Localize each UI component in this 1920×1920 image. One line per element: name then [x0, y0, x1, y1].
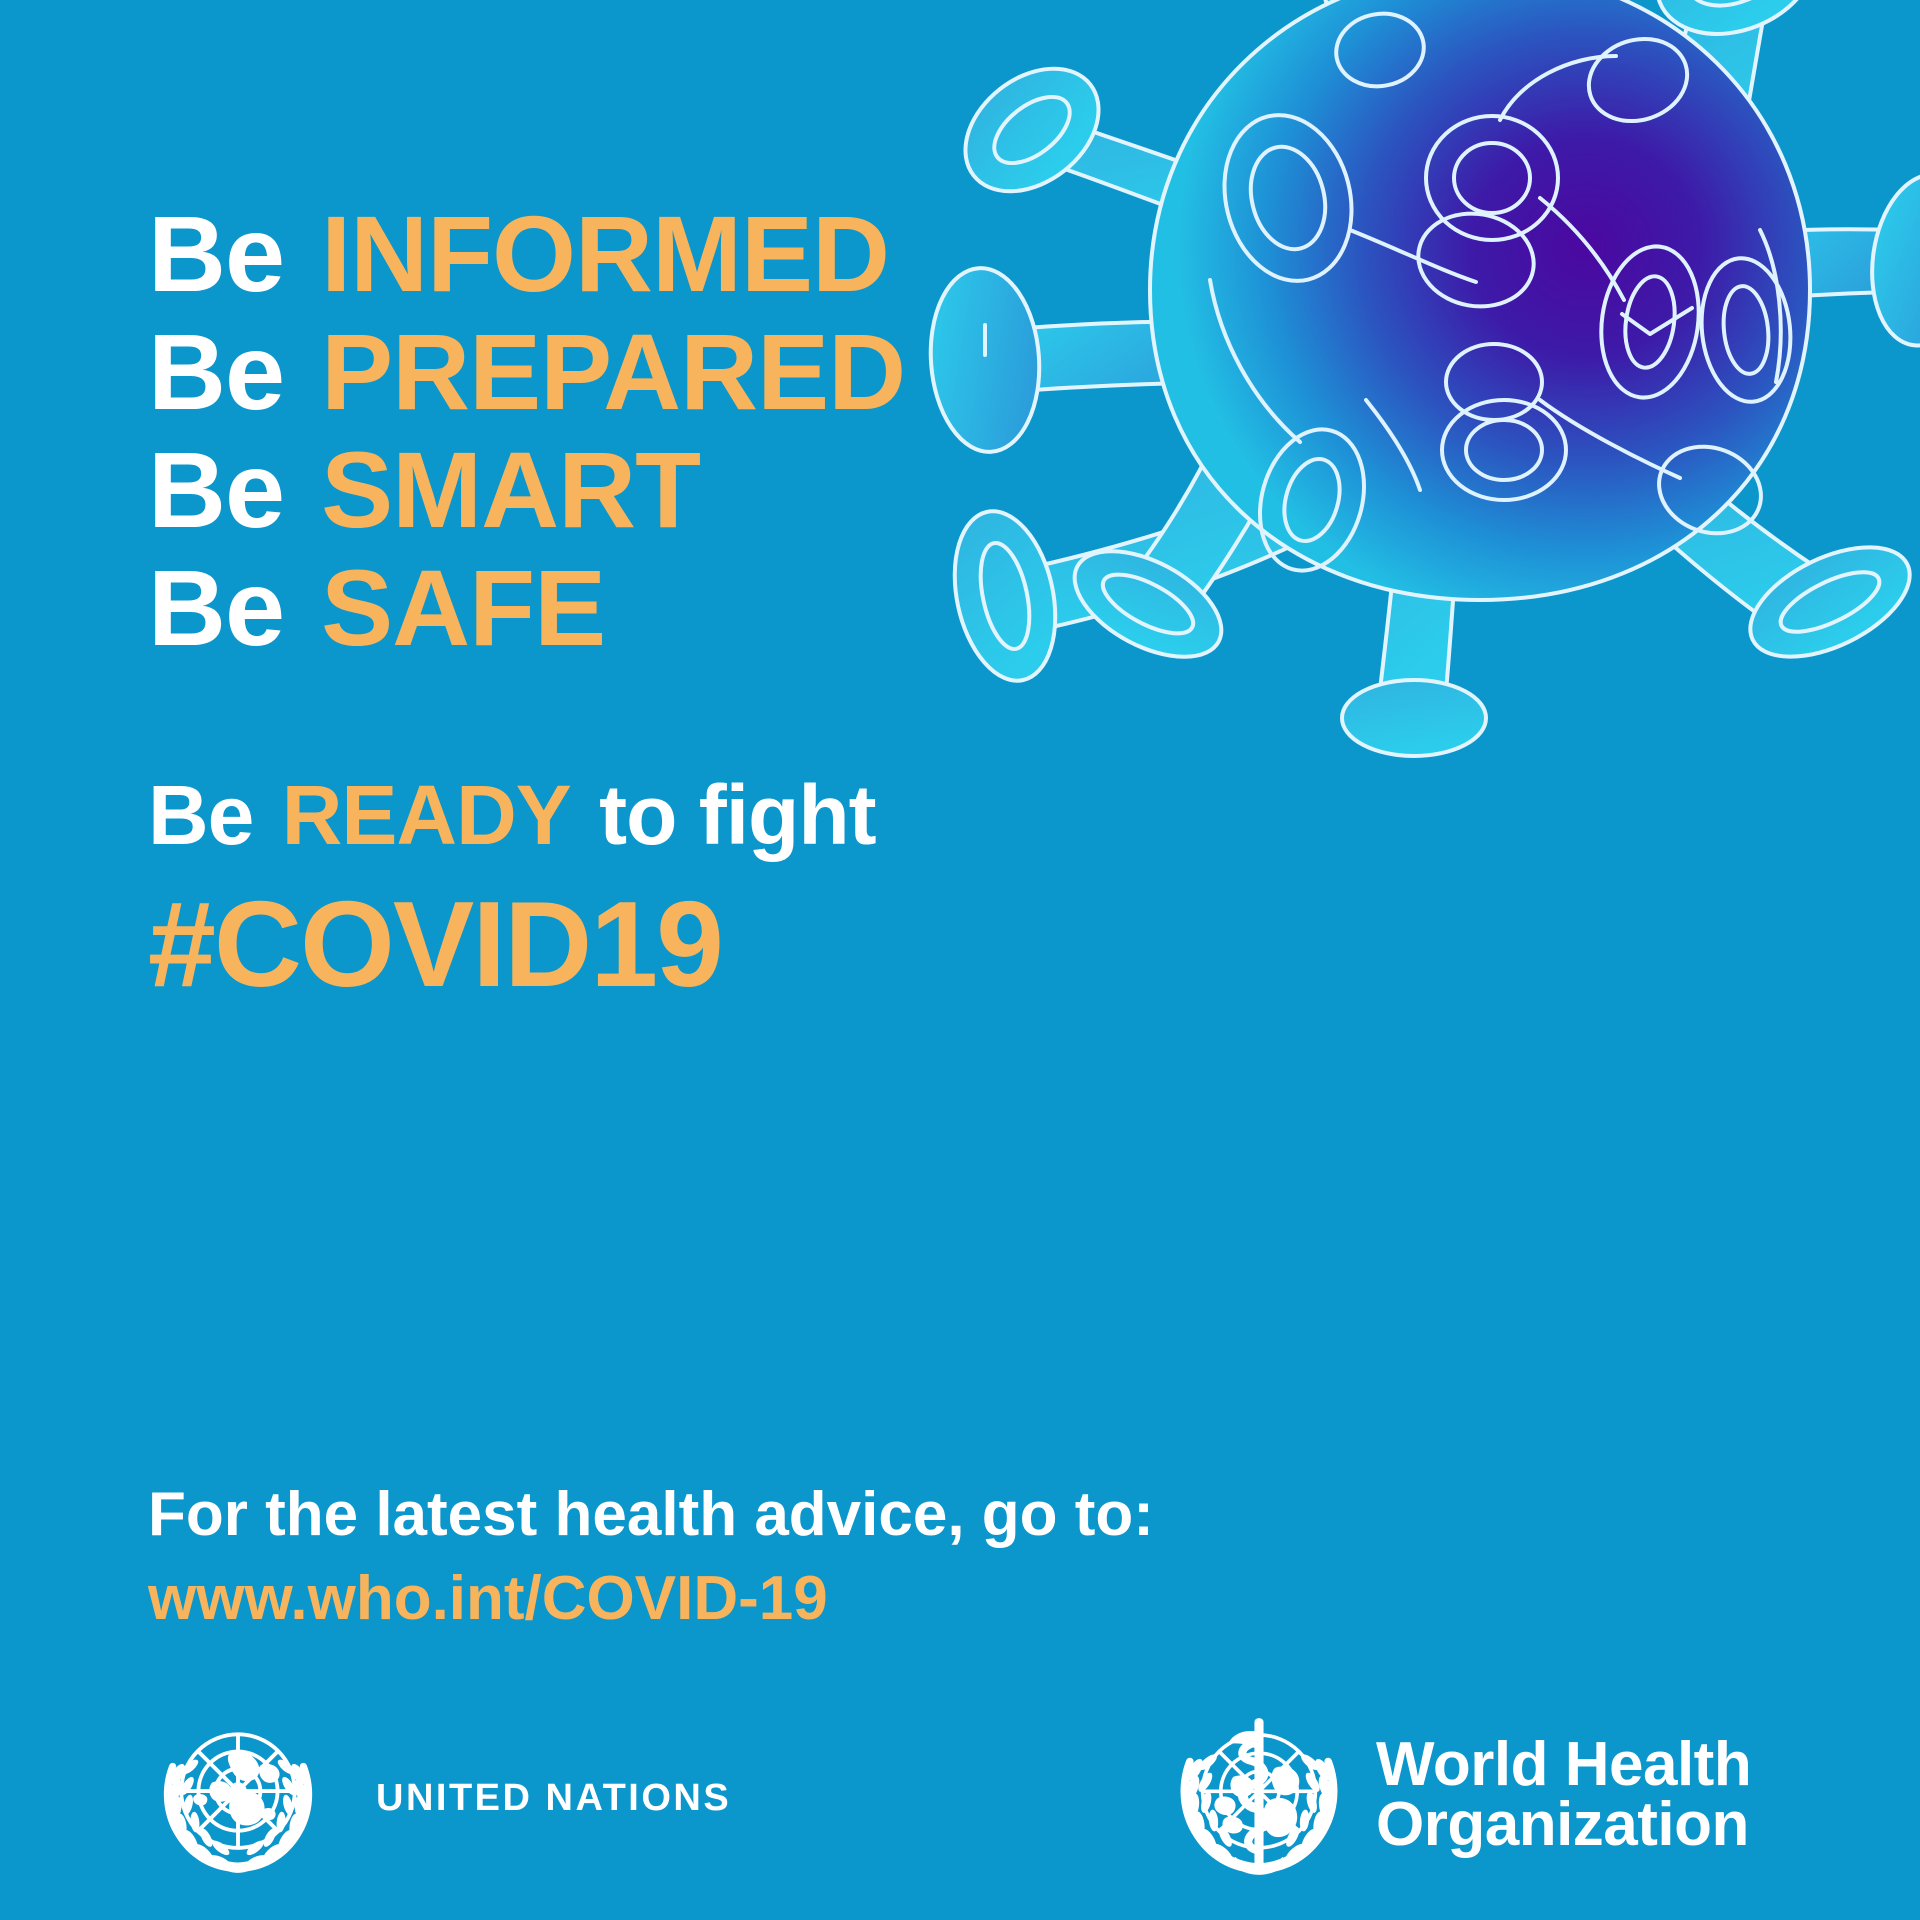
- headline-block: Be INFORMED Be PREPARED Be SMART Be SAFE: [148, 195, 1148, 667]
- world-health-organization-logo: World Health Organization: [1168, 1700, 1751, 1890]
- headline-emphasis-safe: SAFE: [321, 547, 605, 668]
- ready-suffix: to fight: [599, 768, 876, 862]
- headline-line-prepared: Be PREPARED: [148, 313, 1148, 431]
- united-nations-emblem: [152, 1712, 324, 1884]
- ready-block: Be READY to fight #COVID19: [148, 765, 1248, 1009]
- advice-block: For the latest health advice, go to: www…: [148, 1478, 1348, 1636]
- ready-prefix: Be: [148, 768, 253, 862]
- ready-tagline: Be READY to fight: [148, 765, 1248, 865]
- headline-prefix: Be: [148, 193, 284, 314]
- headline-prefix: Be: [148, 547, 284, 668]
- who-wordmark-line1: World Health: [1376, 1735, 1751, 1795]
- who-wordmark-line2: Organization: [1376, 1795, 1751, 1855]
- headline-line-safe: Be SAFE: [148, 549, 1148, 667]
- ready-emphasis: READY: [282, 768, 571, 862]
- poster-canvas: Be INFORMED Be PREPARED Be SMART Be SAFE…: [0, 0, 1920, 1920]
- covid-hashtag: #COVID19: [148, 879, 1248, 1009]
- headline-emphasis-informed: INFORMED: [321, 193, 889, 314]
- headline-prefix: Be: [148, 311, 284, 432]
- united-nations-wordmark: UNITED NATIONS: [376, 1777, 731, 1820]
- headline-line-smart: Be SMART: [148, 431, 1148, 549]
- advice-url[interactable]: www.who.int/COVID-19: [148, 1562, 1348, 1636]
- united-nations-logo: UNITED NATIONS: [152, 1708, 731, 1888]
- headline-prefix: Be: [148, 429, 284, 550]
- headline-line-informed: Be INFORMED: [148, 195, 1148, 313]
- world-health-organization-emblem: [1168, 1704, 1350, 1886]
- advice-label: For the latest health advice, go to:: [148, 1478, 1348, 1552]
- headline-emphasis-prepared: PREPARED: [321, 311, 905, 432]
- headline-emphasis-smart: SMART: [321, 429, 700, 550]
- who-wordmark: World Health Organization: [1376, 1735, 1751, 1855]
